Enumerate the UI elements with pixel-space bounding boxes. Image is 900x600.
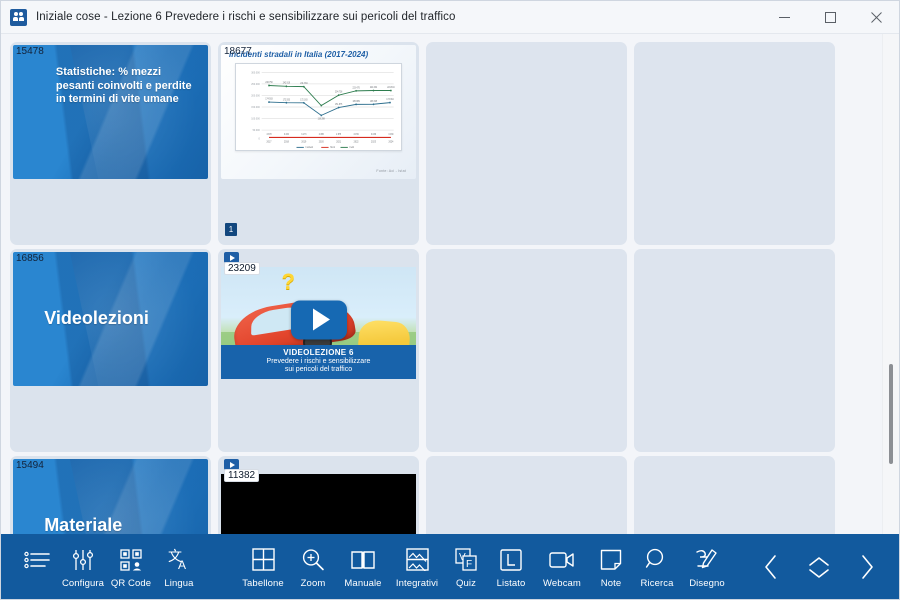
svg-text:3.159: 3.159 bbox=[354, 134, 360, 136]
bottom-toolbar: Configura QR Code 文 bbox=[1, 534, 899, 599]
svg-text:118.298: 118.298 bbox=[318, 119, 326, 121]
svg-text:2023: 2023 bbox=[371, 141, 377, 144]
slide-thumbnail[interactable]: Videolezioni bbox=[13, 252, 208, 386]
manuale-button[interactable]: Manuale bbox=[337, 537, 389, 597]
svg-text:165.889: 165.889 bbox=[352, 101, 360, 103]
svg-text:3.039: 3.039 bbox=[371, 134, 377, 136]
empty-slide-cell[interactable] bbox=[634, 42, 835, 245]
slide-cell[interactable]: Materiale 15494 bbox=[10, 456, 211, 534]
slide-cell[interactable]: Statistiche: % mezzi pesanti coinvolti e… bbox=[10, 42, 211, 245]
grid-table-icon bbox=[252, 545, 275, 575]
empty-slide-cell[interactable] bbox=[634, 249, 835, 452]
svg-text:3.334: 3.334 bbox=[284, 134, 290, 136]
slide-grid: Statistiche: % mezzi pesanti coinvolti e… bbox=[10, 42, 899, 534]
chart-slide-background: Incidenti stradali in Italia (2017-2024) bbox=[221, 45, 416, 179]
video-thumbnail[interactable]: Nella maggioranza dei casi, gli incident… bbox=[221, 474, 416, 534]
svg-text:2017: 2017 bbox=[267, 141, 273, 144]
window-controls bbox=[761, 1, 899, 34]
video-caption: VIDEOLEZIONE 6 Prevedere i rischi e sens… bbox=[221, 345, 416, 380]
chart-source: Fonte: Aci - Istat bbox=[376, 169, 406, 173]
svg-text:100.000: 100.000 bbox=[251, 116, 260, 120]
line-chart: 300.000 250.000 200.000 150.000 100.000 … bbox=[236, 64, 401, 150]
tabellone-button[interactable]: Tabellone bbox=[237, 537, 289, 597]
translate-icon: 文 A bbox=[167, 545, 191, 575]
svg-text:2022: 2022 bbox=[354, 141, 360, 144]
vf-card-icon: V F bbox=[455, 545, 477, 575]
slide-thumbnail[interactable]: Statistiche: % mezzi pesanti coinvolti e… bbox=[13, 45, 208, 179]
svg-text:151.875: 151.875 bbox=[335, 104, 343, 106]
empty-slide-cell[interactable] bbox=[426, 249, 627, 452]
exit-button[interactable] bbox=[891, 537, 900, 597]
maximize-icon[interactable] bbox=[807, 1, 853, 34]
note-page-icon bbox=[600, 545, 622, 575]
video-thumbnail[interactable]: ? VIDEOLEZIONE 6 Prevedere i rischi e se… bbox=[221, 267, 416, 379]
svg-text:250.000: 250.000 bbox=[251, 82, 260, 86]
configura-label: Configura bbox=[62, 578, 104, 589]
svg-text:0: 0 bbox=[259, 136, 261, 140]
svg-text:A: A bbox=[178, 558, 186, 572]
svg-text:172.183: 172.183 bbox=[300, 99, 308, 101]
listato-menu-button[interactable] bbox=[15, 537, 59, 597]
chart-plot-area: 300.000 250.000 200.000 150.000 100.000 … bbox=[235, 63, 402, 151]
tabellone-label: Tabellone bbox=[242, 578, 284, 589]
minimize-icon[interactable] bbox=[761, 1, 807, 34]
listato-label: Listato bbox=[497, 578, 526, 589]
ricerca-button[interactable]: Ricerca bbox=[633, 537, 681, 597]
svg-text:Incidenti: Incidenti bbox=[306, 146, 314, 149]
integrativi-label: Integrativi bbox=[396, 578, 438, 589]
list-icon bbox=[24, 545, 50, 575]
svg-text:Feriti: Feriti bbox=[350, 146, 355, 149]
updown-button[interactable] bbox=[795, 537, 843, 597]
video-camera-icon bbox=[549, 545, 575, 575]
listato-button[interactable]: Listato bbox=[487, 537, 535, 597]
svg-text:2021: 2021 bbox=[336, 141, 342, 144]
video-id: 11382 bbox=[224, 469, 259, 482]
scrollbar-thumb[interactable] bbox=[889, 364, 893, 464]
video-cell[interactable]: Nella maggioranza dei casi, gli incident… bbox=[218, 456, 419, 534]
quiz-label: Quiz bbox=[456, 578, 476, 589]
disegno-label: Disegno bbox=[689, 578, 725, 589]
video-caption-line3: sui pericoli del traffico bbox=[225, 366, 412, 375]
svg-text:300.000: 300.000 bbox=[251, 70, 260, 74]
svg-text:174.933: 174.933 bbox=[265, 99, 273, 101]
chart-title: Incidenti stradali in Italia (2017-2024) bbox=[229, 50, 410, 59]
svg-text:3.030: 3.030 bbox=[388, 134, 394, 136]
svg-text:200.000: 200.000 bbox=[251, 93, 260, 97]
svg-text:166.525: 166.525 bbox=[370, 101, 378, 103]
lingua-button[interactable]: 文 A Lingua bbox=[155, 537, 203, 597]
quiz-button[interactable]: V F Quiz bbox=[445, 537, 487, 597]
svg-text:2.875: 2.875 bbox=[336, 134, 342, 136]
slide-cell[interactable]: Videolezioni 16856 bbox=[10, 249, 211, 452]
slide-grid-area[interactable]: Statistiche: % mezzi pesanti coinvolti e… bbox=[1, 34, 899, 534]
qr-code-icon bbox=[120, 545, 142, 575]
qr-code-button[interactable]: QR Code bbox=[107, 537, 155, 597]
svg-text:241.384: 241.384 bbox=[300, 83, 308, 85]
book-icon bbox=[350, 545, 376, 575]
note-label: Note bbox=[601, 578, 621, 589]
disegno-button[interactable]: Disegno bbox=[681, 537, 733, 597]
svg-text:3.173: 3.173 bbox=[301, 134, 307, 136]
slide-title: Videolezioni bbox=[44, 308, 149, 330]
group-people-icon bbox=[10, 9, 27, 26]
slide-id: 18677 bbox=[224, 46, 252, 57]
video-cell[interactable]: ? VIDEOLEZIONE 6 Prevedere i rischi e se… bbox=[218, 249, 419, 452]
play-button-icon[interactable] bbox=[291, 300, 347, 339]
app-window: Iniziale cose - Lezione 6 Prevedere i ri… bbox=[0, 0, 900, 600]
svg-text:2.395: 2.395 bbox=[319, 134, 325, 136]
svg-text:2019: 2019 bbox=[301, 141, 307, 144]
lingua-label: Lingua bbox=[164, 578, 193, 589]
slide-id: 15494 bbox=[16, 460, 44, 471]
vertical-scrollbar[interactable] bbox=[882, 34, 899, 534]
empty-slide-cell[interactable] bbox=[426, 42, 627, 245]
svg-text:173.364: 173.364 bbox=[386, 99, 394, 101]
svg-text:F: F bbox=[466, 559, 472, 570]
qr-code-label: QR Code bbox=[111, 578, 151, 589]
magnifier-plus-icon bbox=[301, 545, 325, 575]
page-count-badge: 1 bbox=[225, 223, 237, 236]
zoom-label: Zoom bbox=[301, 578, 326, 589]
slide-title: Materiale bbox=[44, 515, 122, 534]
sliders-icon bbox=[71, 545, 95, 575]
svg-text:3.378: 3.378 bbox=[266, 134, 272, 136]
svg-text:224.634: 224.634 bbox=[387, 87, 395, 89]
search-icon bbox=[645, 545, 669, 575]
svg-text:224.634: 224.634 bbox=[370, 87, 378, 89]
svg-text:242.919: 242.919 bbox=[283, 83, 291, 85]
slide-thumbnail[interactable]: Incidenti stradali in Italia (2017-2024) bbox=[221, 45, 416, 179]
letter-l-icon bbox=[500, 545, 522, 575]
prev-button[interactable] bbox=[747, 537, 795, 597]
close-icon[interactable] bbox=[853, 1, 899, 34]
svg-text:246.750: 246.750 bbox=[265, 82, 273, 84]
svg-text:2024: 2024 bbox=[388, 141, 394, 144]
images-icon bbox=[406, 545, 429, 575]
webcam-label: Webcam bbox=[543, 578, 581, 589]
video-black-background bbox=[221, 474, 416, 534]
video-caption-line1: VIDEOLEZIONE 6 bbox=[225, 348, 412, 358]
pen-draw-icon bbox=[695, 545, 719, 575]
empty-slide-cell[interactable] bbox=[634, 456, 835, 534]
video-id: 23209 bbox=[224, 262, 260, 275]
svg-text:50.000: 50.000 bbox=[253, 128, 261, 132]
question-mark-icon: ? bbox=[281, 271, 294, 293]
zoom-button[interactable]: Zoom bbox=[289, 537, 337, 597]
slide-cell[interactable]: Incidenti stradali in Italia (2017-2024) bbox=[218, 42, 419, 245]
slide-id: 15478 bbox=[16, 46, 44, 57]
svg-text:150.000: 150.000 bbox=[251, 105, 260, 109]
titlebar: Iniziale cose - Lezione 6 Prevedere i ri… bbox=[1, 1, 899, 34]
svg-text:204.728: 204.728 bbox=[335, 91, 343, 93]
configura-button[interactable]: Configura bbox=[59, 537, 107, 597]
svg-text:172.553: 172.553 bbox=[283, 99, 291, 101]
svg-text:2018: 2018 bbox=[284, 141, 290, 144]
video-caption-line2: Prevedere i rischi e sensibilizzare bbox=[225, 358, 412, 367]
note-button[interactable]: Note bbox=[589, 537, 633, 597]
manuale-label: Manuale bbox=[344, 578, 381, 589]
window-title: Iniziale cose - Lezione 6 Prevedere i ri… bbox=[36, 11, 761, 23]
svg-text:2020: 2020 bbox=[319, 141, 325, 144]
video-id-badge: 11382 bbox=[224, 459, 259, 482]
webcam-button[interactable]: Webcam bbox=[535, 537, 589, 597]
blue-gradient-background bbox=[13, 45, 208, 179]
ricerca-label: Ricerca bbox=[641, 578, 674, 589]
video-id-badge: 23209 bbox=[224, 252, 260, 275]
next-button[interactable] bbox=[843, 537, 891, 597]
empty-slide-cell[interactable] bbox=[426, 456, 627, 534]
integrativi-button[interactable]: Integrativi bbox=[389, 537, 445, 597]
svg-text:223.475: 223.475 bbox=[352, 87, 360, 89]
slide-title: Statistiche: % mezzi pesanti coinvolti e… bbox=[56, 66, 196, 106]
slide-id: 16856 bbox=[16, 253, 44, 264]
svg-text:Morti: Morti bbox=[330, 146, 335, 149]
